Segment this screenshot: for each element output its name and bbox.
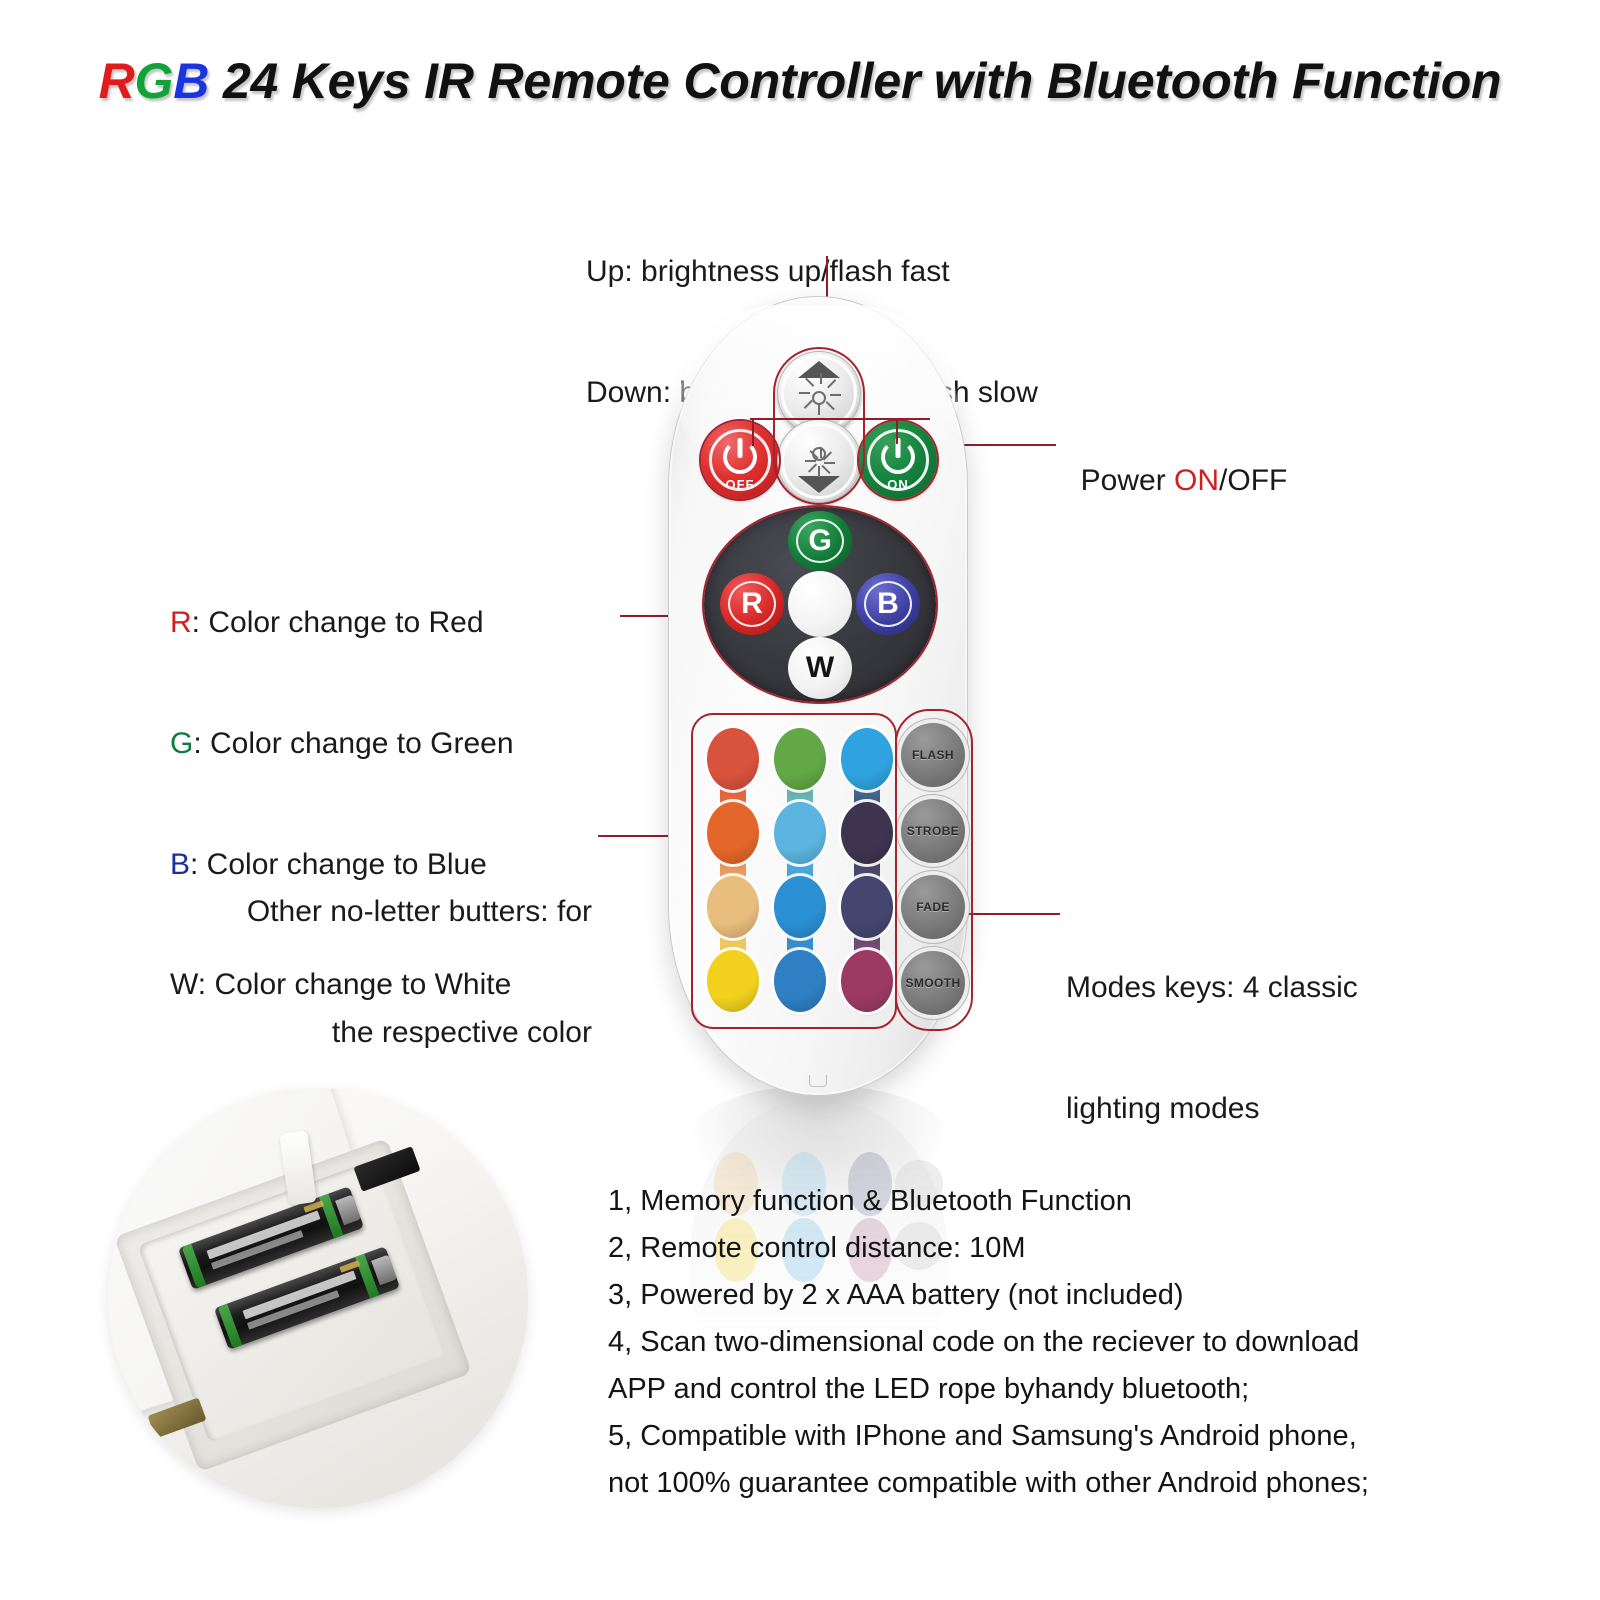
power-icon: ON (859, 421, 937, 499)
remote-control-body: OFF ON G (668, 296, 968, 1096)
pad-label-b: B (877, 587, 899, 621)
color-button-r2-c2[interactable] (774, 802, 826, 864)
feature-line-2: 2, Remote control distance: 10M (608, 1225, 1508, 1272)
power-off-button[interactable]: OFF (701, 421, 779, 499)
pad-label-g: G (808, 524, 831, 558)
mode-button-fade[interactable]: FADE (901, 875, 965, 939)
pad-button-red[interactable]: R (720, 573, 784, 635)
mode-button-label: STROBE (907, 824, 959, 838)
feature-list: 1, Memory function & Bluetooth Function2… (608, 1178, 1508, 1507)
brightness-down-button[interactable] (777, 419, 861, 503)
leader-stub-on (896, 418, 898, 444)
annotation-power-prefix: Power (1081, 464, 1174, 497)
title-letter-b: B (173, 53, 209, 109)
annotation-noletter: Other no-letter butters: for the respect… (172, 812, 592, 1093)
annotation-rgbw-key-1: G (170, 727, 193, 760)
annotation-modes: Modes keys: 4 classic lighting modes (1066, 888, 1358, 1169)
leader-stub-off (752, 418, 754, 446)
pad-label-w: W (806, 651, 834, 685)
battery-compartment-photo (108, 1088, 528, 1508)
feature-line-7: not 100% guarantee compatible with other… (608, 1460, 1508, 1507)
color-button-r1-c1[interactable] (707, 728, 759, 790)
color-button-grid (699, 722, 889, 1022)
pad-button-white[interactable]: W (788, 637, 852, 699)
remote-bottom-notch (809, 1075, 827, 1087)
annotation-rgbw-key-0: R (170, 606, 192, 639)
mode-button-label: FADE (916, 900, 950, 914)
power-on-button[interactable]: ON (859, 421, 937, 499)
annotation-brightness-line1: Up: brightness up/flash fast (586, 252, 1038, 292)
page-title: RGB 24 Keys IR Remote Controller with Bl… (0, 52, 1600, 110)
title-letter-r: R (99, 53, 135, 109)
annotation-power-on: ON (1174, 464, 1219, 497)
feature-line-6: 5, Compatible with IPhone and Samsung's … (608, 1413, 1508, 1460)
sun-icon (778, 420, 860, 502)
color-button-r3-c2[interactable] (774, 876, 826, 938)
mode-button-label: SMOOTH (905, 976, 960, 990)
annotation-noletter-line1: Other no-letter butters: for (172, 892, 592, 932)
title-letter-g: G (135, 53, 174, 109)
power-icon: OFF (701, 421, 779, 499)
color-button-r3-c3[interactable] (841, 876, 893, 938)
power-off-label: OFF (701, 477, 779, 492)
annotation-modes-line2: lighting modes (1066, 1089, 1358, 1129)
color-button-r1-c3[interactable] (841, 728, 893, 790)
mode-button-label: FLASH (912, 748, 954, 762)
color-button-r2-c3[interactable] (841, 802, 893, 864)
color-button-r4-c3[interactable] (841, 950, 893, 1012)
annotation-modes-line1: Modes keys: 4 classic (1066, 968, 1358, 1008)
annotation-power: Power ON/OFF (1064, 421, 1287, 501)
annotation-rgbw-text-1: : Color change to Green (193, 727, 513, 760)
color-button-r3-c1[interactable] (707, 876, 759, 938)
color-button-r2-c1[interactable] (707, 802, 759, 864)
title-rest: 24 Keys IR Remote Controller with Blueto… (209, 53, 1501, 109)
pad-button-center[interactable] (788, 571, 852, 637)
mode-button-column: FLASHSTROBEFADESMOOTH (901, 717, 969, 1027)
pad-label-r: R (741, 587, 763, 621)
power-on-label: ON (859, 477, 937, 492)
feature-line-3: 3, Powered by 2 x AAA battery (not inclu… (608, 1272, 1508, 1319)
annotation-noletter-line2: the respective color (172, 1013, 592, 1053)
leader-modes (962, 913, 1060, 915)
pad-button-green[interactable]: G (788, 511, 852, 571)
mode-button-strobe[interactable]: STROBE (901, 799, 965, 863)
feature-line-4: 4, Scan two-dimensional code on the reci… (608, 1319, 1508, 1366)
mode-button-smooth[interactable]: SMOOTH (901, 951, 965, 1015)
leader-stub-power-row (750, 418, 930, 420)
color-button-r1-c2[interactable] (774, 728, 826, 790)
annotation-rgbw-text-0: : Color change to Red (192, 606, 484, 639)
annotation-power-suffix: /OFF (1219, 464, 1287, 497)
feature-line-5: APP and control the LED rope byhandy blu… (608, 1366, 1508, 1413)
color-button-r4-c2[interactable] (774, 950, 826, 1012)
feature-line-1: 1, Memory function & Bluetooth Function (608, 1178, 1508, 1225)
rgbw-color-pad: G R B W (704, 507, 936, 702)
pad-button-blue[interactable]: B (856, 573, 920, 635)
color-button-r4-c1[interactable] (707, 950, 759, 1012)
mode-button-flash[interactable]: FLASH (901, 723, 965, 787)
